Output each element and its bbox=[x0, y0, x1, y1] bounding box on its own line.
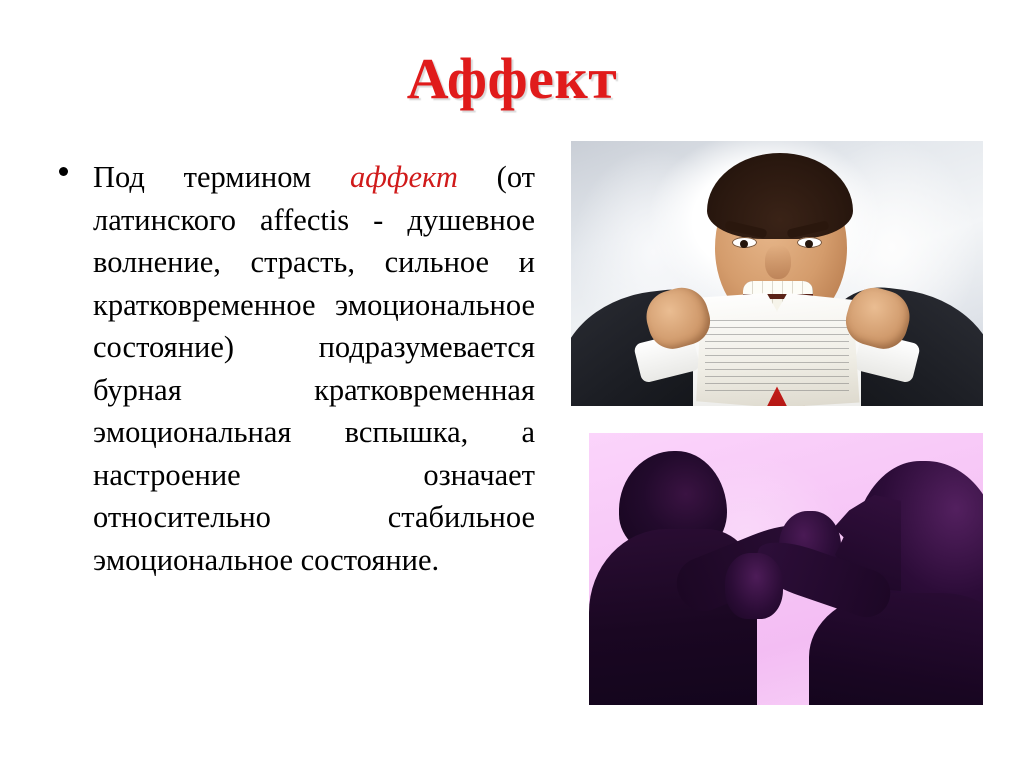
female-body-silhouette bbox=[809, 593, 983, 705]
female-silhouette bbox=[793, 461, 983, 705]
emphasized-term: аффект bbox=[350, 160, 458, 194]
page-title: Аффект bbox=[0, 47, 1024, 111]
paper-text-lines bbox=[705, 320, 849, 393]
eye-right bbox=[797, 237, 822, 248]
paragraph-lead-text: Под термином bbox=[93, 160, 350, 194]
presentation-slide: Аффект Под термином аффект (от латинског… bbox=[0, 0, 1024, 767]
eye-left bbox=[732, 237, 757, 248]
bullet-point-icon bbox=[59, 167, 68, 176]
content-text-block: Под термином аффект (от латинского affec… bbox=[57, 156, 535, 581]
angry-man-tearing-paper-photo bbox=[571, 141, 983, 406]
body-paragraph: Под термином аффект (от латинского affec… bbox=[93, 156, 535, 581]
pupil-right bbox=[805, 240, 813, 248]
bullet-list-item: Под термином аффект (от латинского affec… bbox=[57, 156, 535, 581]
upper-teeth bbox=[743, 281, 813, 294]
arguing-silhouettes-photo bbox=[589, 433, 983, 705]
pupil-left bbox=[740, 240, 748, 248]
paragraph-rest-text: (от латинского affectis - душевное волне… bbox=[93, 160, 535, 577]
nose bbox=[765, 245, 791, 279]
female-hand-silhouette bbox=[725, 553, 783, 619]
